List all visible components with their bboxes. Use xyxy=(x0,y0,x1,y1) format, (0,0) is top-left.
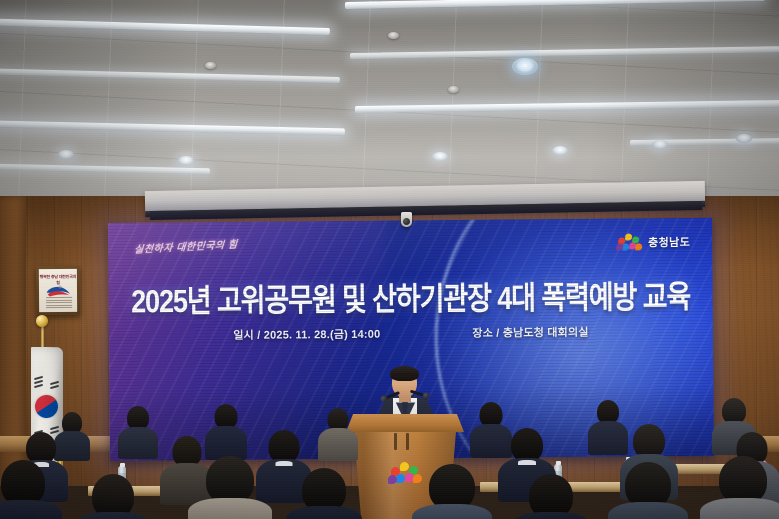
audience-person-r1-4 xyxy=(286,468,362,519)
audience-body xyxy=(188,498,272,519)
audience-area xyxy=(0,402,779,519)
audience-person-r1-1 xyxy=(0,460,62,519)
presenter-hair xyxy=(390,366,419,381)
event-venue-label: 장소 / 충남도청 대회의실 xyxy=(472,324,588,341)
plaque-inner: 행복한 충남 대한민국의 힘 xyxy=(39,269,77,312)
audience-person-r1-5 xyxy=(412,464,492,519)
audience-person-r1-7 xyxy=(608,462,688,519)
audience-head xyxy=(719,456,767,504)
audience-body xyxy=(0,500,62,519)
audience-person-r3-4 xyxy=(318,408,358,456)
audience-body xyxy=(76,512,150,519)
government-slogan-calligraphy: 실천하자 대한민국의 힘 xyxy=(134,236,238,256)
audience-body xyxy=(512,512,590,519)
audience-body xyxy=(700,498,779,519)
audience-person-r1-3 xyxy=(188,456,272,519)
audience-person-r3-2 xyxy=(118,406,158,454)
chungcheongnam-do-brandmark: 충청남도 xyxy=(616,233,690,252)
screen-info-row: 일시 / 2025. 11. 28.(금) 14:00 장소 / 충남도청 대회… xyxy=(109,323,713,344)
event-datetime-label: 일시 / 2025. 11. 28.(금) 14:00 xyxy=(233,326,380,343)
photo-scene: 실천하자 대한민국의 힘 충청남도 2025년 고위공무원 및 산하기관장 4대… xyxy=(0,0,779,519)
audience-body xyxy=(286,506,362,519)
flagpole-finial xyxy=(36,315,48,327)
brand-name-label: 충청남도 xyxy=(648,234,690,250)
audience-person-r1-8 xyxy=(700,456,779,519)
ceiling-camera-icon xyxy=(401,212,412,227)
audience-person-r1-2 xyxy=(76,474,150,519)
screen-main-title: 2025년 고위공무원 및 산하기관장 4대 폭력예방 교육 xyxy=(109,281,713,318)
audience-body xyxy=(118,427,158,459)
audience-head xyxy=(206,456,254,504)
audience-body xyxy=(318,428,358,461)
audience-collar xyxy=(276,461,293,466)
microphone-icon-right xyxy=(410,390,426,398)
audience-head xyxy=(511,428,543,462)
audience-body xyxy=(608,502,688,519)
audience-body xyxy=(412,504,492,519)
ceiling xyxy=(0,0,779,205)
audience-head xyxy=(633,424,665,458)
plaque-text-lines xyxy=(46,297,72,308)
chungcheongnam-do-flower-logo-icon xyxy=(616,233,642,251)
audience-collar xyxy=(518,460,536,465)
audience-person-r1-6 xyxy=(512,474,590,519)
government-emblem-plaque: 행복한 충남 대한민국의 힘 xyxy=(36,266,80,315)
ceiling-shading xyxy=(0,0,779,205)
taegeuk-swoosh-icon xyxy=(45,284,71,298)
